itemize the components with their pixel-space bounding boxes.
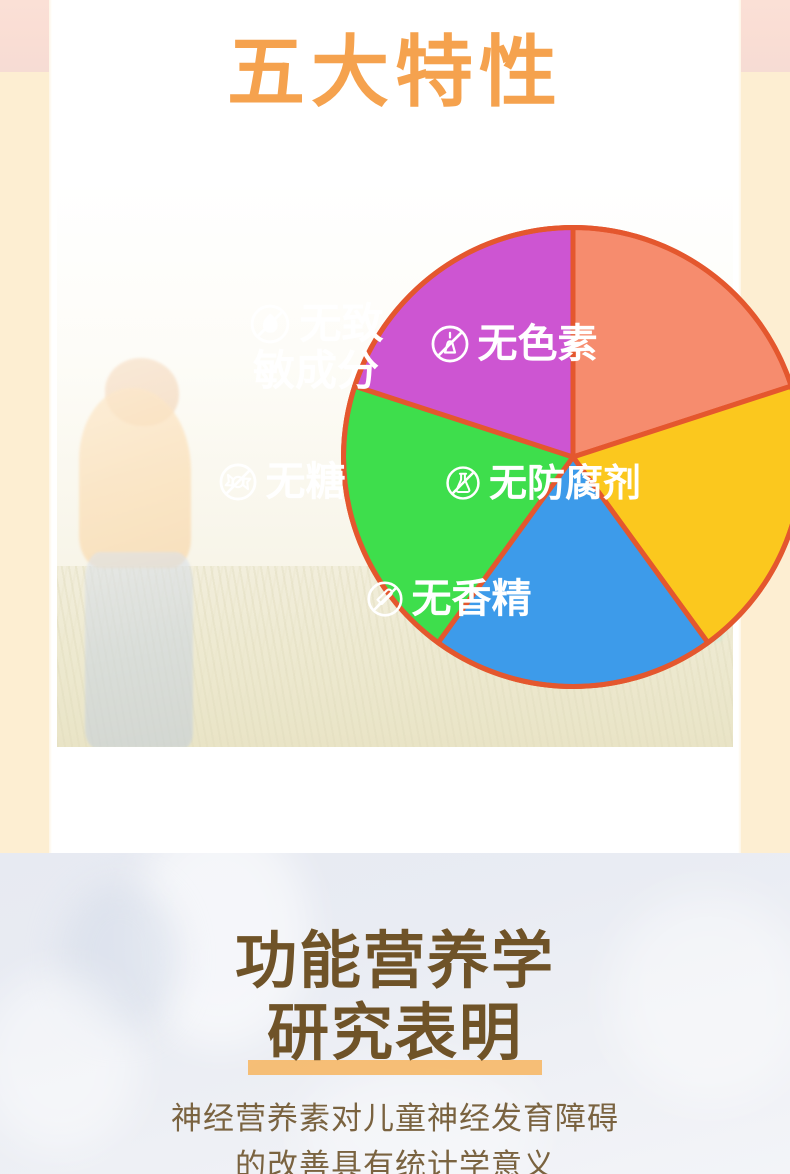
child-left-jeans [85,552,193,747]
research-body-line-1: 神经营养素对儿童神经发育障碍 [0,1096,790,1143]
research-body-copy: 神经营养素对儿童神经发育障碍 的改善具有统计学意义 [0,1096,790,1174]
child-left-shirt [79,388,191,568]
research-body-line-2: 的改善具有统计学意义 [0,1143,790,1174]
page-title-text: 五大特性 [49,30,741,116]
research-heading-line-2: 研究表明 [0,997,790,1069]
features-pie-chart: 无色素 无防腐剂 无香精 无糖 无致敏成分 [338,222,790,692]
research-heading-line-1: 功能营养学 [0,925,790,997]
product-detail-page: 五大特性 无色素 无防腐剂 [0,0,790,1174]
research-heading: 功能营养学 研究表明 [0,925,790,1069]
page-title: 五大特性 [49,30,741,116]
pie-chart-svg [338,222,790,692]
